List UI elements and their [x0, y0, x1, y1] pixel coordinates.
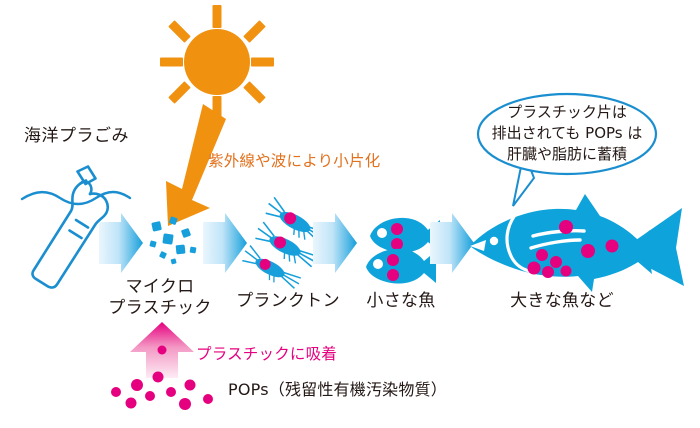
annotation-adsorption: プラスチックに吸着 — [196, 345, 337, 364]
blue-chevron-arrow-icon — [313, 213, 357, 273]
infographic-canvas: 海洋プラごみ マイクロ プラスチック プランクトン 小さな魚 大きな魚など 紫外… — [0, 0, 700, 428]
label-plankton: プランクトン — [226, 291, 350, 312]
wave-line-icon — [22, 192, 130, 204]
sun-icon — [160, 5, 274, 119]
small-fish-icon — [366, 218, 440, 284]
callout-line-3: 肝臓や脂肪に蓄積 — [482, 145, 652, 164]
plastic-bottle-icon — [32, 167, 107, 288]
callout-line-1: プラスチック片は — [487, 103, 647, 122]
annotation-uv-fragmentation: 紫外線や波により小片化 — [208, 152, 380, 171]
blue-chevron-arrow-icon — [99, 213, 143, 273]
blue-chevron-arrow-icon — [430, 213, 474, 273]
label-microplastic: マイクロ プラスチック — [104, 277, 216, 320]
label-small-fish: 小さな魚 — [350, 291, 452, 312]
callout-line-2: 排出されても POPs は — [477, 124, 657, 143]
diagram-svg — [0, 0, 700, 428]
large-tuna-fish-icon — [470, 194, 684, 292]
microplastic-fragments-icon — [149, 216, 196, 264]
annotation-pops-full-name: POPs（残留性有機汚染物質） — [228, 380, 447, 400]
label-marine-plastic-waste: 海洋プラごみ — [24, 126, 129, 147]
label-large-fish: 大きな魚など — [494, 291, 630, 312]
blue-chevron-arrow-icon — [203, 213, 247, 273]
